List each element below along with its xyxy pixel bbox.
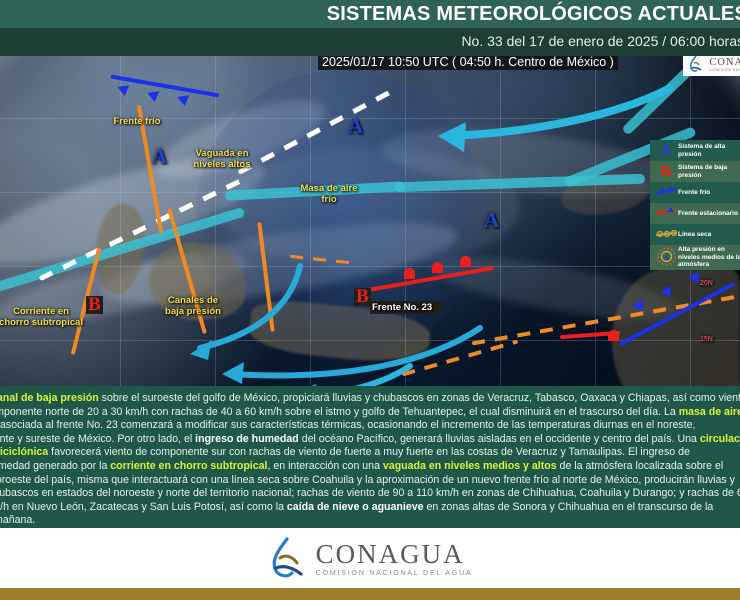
discussion-text-block: El canal de baja presión sobre el suroes… xyxy=(0,386,740,528)
discussion-text-segment: vaguada en niveles medios y altos xyxy=(383,460,557,472)
discussion-text-segment: humedad generado por la xyxy=(0,460,110,472)
weather-bulletin-page: SISTEMAS METEOROLÓGICOS ACTUALES No. 33 … xyxy=(0,0,740,600)
label-frente-23: Frente No. 23 xyxy=(370,301,442,314)
page-title: SISTEMAS METEOROLÓGICOS ACTUALES xyxy=(327,3,740,26)
discussion-line: anticiclónica favorecerá viento de compo… xyxy=(0,446,740,460)
discussion-text-segment: chubascos en estados del noroeste y nort… xyxy=(0,487,740,499)
discussion-text-segment: mañana. xyxy=(0,514,35,526)
conagua-water-drop-icon xyxy=(268,536,306,580)
discussion-line: componente norte de 20 a 30 km/h con rac… xyxy=(0,406,740,420)
discussion-line: noroeste del país, misma que interactuar… xyxy=(0,474,740,488)
label-canales-baja-presion: Canales de baja presión xyxy=(160,295,226,317)
discussion-line: mañana. xyxy=(0,514,740,528)
lat-tick-15n: 15N xyxy=(700,334,713,345)
footer-branding: CONAGUA COMISIÓN NACIONAL DEL AGUA xyxy=(0,528,740,588)
footer-conagua-name: CONAGUA xyxy=(316,540,473,568)
gulf-return-arrow xyxy=(420,80,680,180)
pacific-moisture-arrow xyxy=(280,356,420,386)
discussion-text-segment: asociada al frente No. 23 comenzará a mo… xyxy=(0,419,695,431)
discussion-lines: El canal de baja presión sobre el suroes… xyxy=(0,392,740,528)
high-pressure-a-icon: A xyxy=(654,144,678,157)
header-conagua-logo: CONAGUA COMISIÓN NACIONAL DEL AGUA xyxy=(683,56,740,76)
legend-label: Frente estacionario xyxy=(678,210,738,217)
lat-tick-20n: 20N xyxy=(700,278,713,289)
cold-front-barb xyxy=(147,91,160,103)
bulletin-number-date: No. 33 del 17 de enero de 2025 / 06:00 h… xyxy=(461,33,740,49)
high-pressure-marker-a3: A xyxy=(484,208,499,233)
discussion-text-segment: anticiclónica xyxy=(0,446,48,458)
discussion-text-segment: componente norte de 20 a 30 km/h con rac… xyxy=(0,406,679,418)
high-pressure-marker-a2: A xyxy=(348,114,363,139)
low-pressure-marker-b2: B xyxy=(354,288,371,306)
satellite-timestamp: 2025/01/17 10:50 UTC ( 04:50 h. Centro d… xyxy=(318,56,618,70)
grid-line xyxy=(120,56,121,386)
map-legend: A Sistema de alta presión B Sistema de b… xyxy=(650,140,740,270)
legend-label: Alta presión en niveles medios de la atm… xyxy=(678,246,740,268)
discussion-line: humedad generado por la corriente en cho… xyxy=(0,460,740,474)
low-pressure-marker-b1: B xyxy=(86,296,103,314)
cold-front-barb xyxy=(177,95,190,107)
discussion-text-segment: , en interacción con una xyxy=(267,460,382,472)
discussion-text-segment: del océano Pacífico, generará lluvias ai… xyxy=(299,433,700,445)
discussion-text-segment: favorecerá viento de componente sur con … xyxy=(48,446,690,458)
discussion-line: frío asociada al frente No. 23 comenzará… xyxy=(0,419,740,433)
cold-front-icon xyxy=(654,186,678,199)
landmass xyxy=(612,268,740,386)
legend-item-stationary-front[interactable]: Frente estacionario xyxy=(650,203,740,224)
low-pressure-b-icon: B xyxy=(654,165,678,178)
legend-label: Línea seca xyxy=(678,231,711,238)
legend-item-cold-front[interactable]: Frente frío xyxy=(650,182,740,203)
discussion-line: km/h en Nuevo León, Zacatecas y San Luis… xyxy=(0,501,740,515)
discussion-text-segment: caída de nieve o aguanieve xyxy=(287,501,424,513)
header-conagua-subtitle: COMISIÓN NACIONAL DEL AGUA xyxy=(709,68,740,72)
legend-item-high-pressure-system[interactable]: A Sistema de alta presión xyxy=(650,140,740,161)
cold-front-barb xyxy=(117,85,130,97)
discussion-text-segment: oriente y sureste de México. Por otro la… xyxy=(0,433,195,445)
svg-text:A: A xyxy=(663,253,669,262)
high-pressure-marker-a1: A xyxy=(152,144,167,169)
label-vaguada-niveles-altos: Vaguada en niveles altos xyxy=(180,148,264,170)
discussion-line: oriente y sureste de México. Por otro la… xyxy=(0,433,740,447)
discussion-text-segment: ingreso de humedad xyxy=(195,433,299,445)
legend-label: Sistema de baja presión xyxy=(678,164,740,179)
legend-label: Sistema de alta presión xyxy=(678,143,740,158)
satellite-weather-map[interactable]: A A A B B Frente frío Vaguada en niveles… xyxy=(0,56,740,386)
discussion-text-segment: de la atmósfera localizada sobre el xyxy=(557,460,724,472)
dry-line-icon xyxy=(654,228,678,241)
discussion-line: El canal de baja presión sobre el suroes… xyxy=(0,392,740,406)
discussion-text-segment: km/h en Nuevo León, Zacatecas y San Luis… xyxy=(0,501,287,513)
legend-item-low-pressure-system[interactable]: B Sistema de baja presión xyxy=(650,161,740,182)
discussion-text-segment: corriente en chorro subtropical xyxy=(110,460,267,472)
discussion-line: chubascos en estados del noroeste y nort… xyxy=(0,487,740,501)
label-corriente-chorro-subtropical: Corriente en chorro subtropical xyxy=(0,306,84,328)
legend-label: Frente frío xyxy=(678,189,710,196)
discussion-text-segment: circulación xyxy=(700,433,740,445)
discussion-text-segment: noroeste del país, misma que interactuar… xyxy=(0,474,735,486)
legend-item-dry-line[interactable]: Línea seca xyxy=(650,224,740,245)
footer-gold-bar xyxy=(0,588,740,600)
discussion-text-segment: sobre el suroeste del golfo de México, p… xyxy=(99,392,740,404)
label-frente-frio: Frente frío xyxy=(102,116,172,127)
water-drop-icon xyxy=(689,56,703,73)
header-conagua-name: CONAGUA xyxy=(709,57,740,68)
legend-item-mid-level-high[interactable]: A Alta presión en niveles medios de la a… xyxy=(650,245,740,270)
discussion-text-segment: en zonas altas de Sonora y Chihuahua en … xyxy=(424,501,714,513)
anticyclone-icon: A xyxy=(654,247,678,268)
stationary-front-icon xyxy=(654,207,678,220)
discussion-text-segment: masa de aire xyxy=(679,406,740,418)
footer-conagua-subtitle: COMISIÓN NACIONAL DEL AGUA xyxy=(316,568,473,577)
label-masa-aire-frio: Masa de aire frío xyxy=(300,183,358,205)
discussion-text-segment: El canal de baja presión xyxy=(0,392,99,404)
